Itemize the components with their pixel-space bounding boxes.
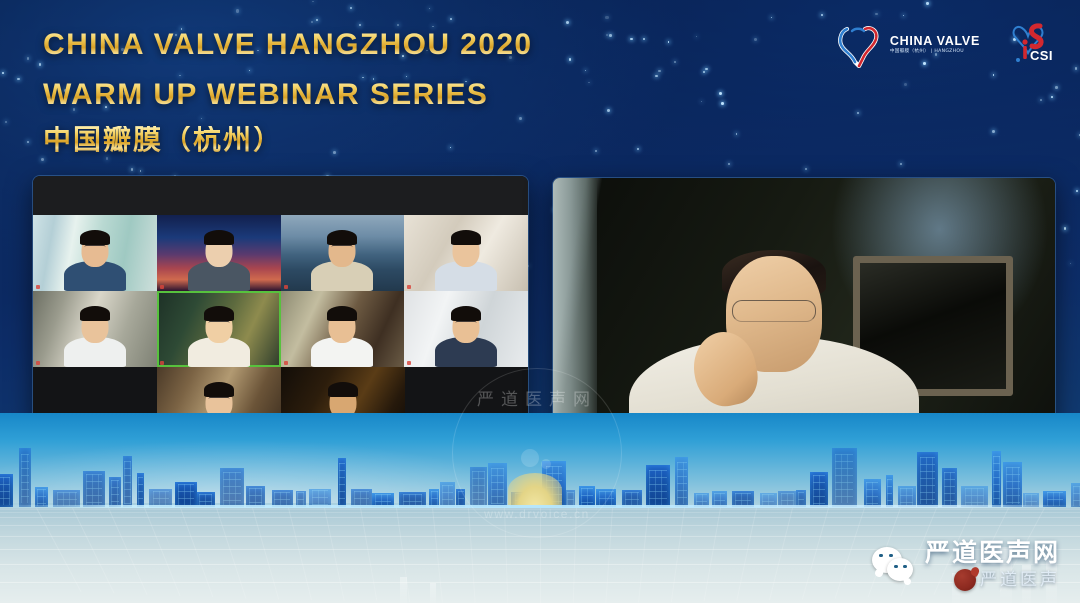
floor-reflection — [400, 577, 407, 603]
participant-1[interactable] — [33, 215, 157, 291]
participant-hair — [451, 230, 481, 245]
brand-dot-icon — [954, 569, 976, 591]
participant-name-label — [284, 285, 290, 289]
participant-name-label — [407, 285, 413, 289]
participant-hair — [80, 230, 110, 245]
building — [123, 456, 132, 507]
floor-line-vertical — [180, 508, 213, 597]
mic-muted-icon — [284, 361, 288, 365]
participant-hair — [204, 306, 234, 321]
building — [864, 479, 881, 507]
building — [992, 451, 1001, 507]
event-title-block: CHINA VALVE HANGZHOU 2020 WARM UP WEBINA… — [43, 30, 533, 154]
participant-glasses — [84, 245, 105, 249]
mic-muted-icon — [284, 285, 288, 289]
mic-muted-icon — [36, 285, 40, 289]
participant-4[interactable] — [404, 215, 528, 291]
building — [579, 486, 595, 507]
participant-hair — [80, 306, 110, 321]
building — [338, 458, 347, 507]
building — [220, 468, 245, 507]
building — [810, 472, 828, 507]
floor-line-vertical — [468, 508, 476, 603]
page-subtitle: WARM UP WEBINAR SERIES — [43, 80, 533, 110]
participant-name-label — [36, 361, 42, 365]
building-silhouettes — [0, 421, 1080, 507]
csi-logo-text: CSI — [1030, 48, 1053, 63]
floor-line-vertical — [802, 508, 829, 599]
building — [832, 448, 857, 507]
participant-3[interactable] — [281, 215, 405, 291]
participant-name-label — [407, 361, 413, 365]
building — [488, 463, 507, 507]
brand-subtitle: 严道医声 — [980, 572, 1060, 589]
floor-line-vertical — [671, 508, 685, 602]
dome-building — [508, 473, 562, 507]
floor-line-vertical — [540, 508, 541, 603]
participant-7[interactable] — [281, 291, 405, 367]
building — [898, 486, 916, 507]
brand-title: 严道医声网 — [925, 540, 1060, 565]
floor-line-vertical — [573, 508, 577, 603]
building — [246, 486, 264, 507]
page-title: CHINA VALVE HANGZHOU 2020 — [43, 30, 533, 60]
floor-line-vertical — [769, 508, 793, 600]
participant-hair — [204, 230, 234, 245]
building — [886, 475, 893, 507]
mic-muted-icon — [36, 361, 40, 365]
building — [1071, 483, 1080, 507]
participant-hair — [204, 382, 234, 397]
participant-name-label — [36, 285, 42, 289]
participant-name-label — [284, 361, 290, 365]
mic-muted-icon — [160, 285, 164, 289]
floor-line-vertical — [704, 508, 721, 602]
participant-hair — [328, 382, 358, 397]
webinar-stage: CHINA VALVE HANGZHOU 2020 WARM UP WEBINA… — [0, 0, 1080, 603]
building — [0, 474, 13, 507]
floor-reflection — [430, 583, 436, 603]
csi-logo: CSI — [1006, 20, 1062, 70]
building — [1003, 462, 1022, 507]
building — [646, 465, 671, 507]
building — [19, 448, 31, 507]
participant-hair — [327, 230, 357, 245]
floor-line-vertical — [324, 508, 345, 601]
building — [137, 473, 144, 507]
floor-line-vertical — [736, 508, 757, 601]
building — [83, 471, 104, 507]
speaker-glasses — [732, 300, 816, 322]
participant-5[interactable] — [33, 291, 157, 367]
participant-glasses — [208, 397, 229, 401]
participant-hair — [451, 306, 481, 321]
building — [961, 486, 988, 507]
participant-glasses — [456, 321, 477, 325]
participant-6[interactable] — [157, 291, 281, 367]
floor-line-vertical — [252, 508, 279, 599]
floor-line-vertical — [638, 508, 649, 603]
drvoice-brand: 严道医声网 严道医声 — [872, 540, 1060, 591]
floor-line-vertical — [605, 508, 613, 603]
participant-name-label — [160, 285, 166, 289]
participant-hair — [327, 306, 357, 321]
china-valve-logo-subtext: 中国瓣膜（杭州） | HANGZHOU — [890, 50, 980, 55]
building — [440, 482, 455, 507]
floor-line-vertical — [216, 508, 246, 599]
mic-muted-icon — [160, 361, 164, 365]
building — [470, 467, 487, 507]
mic-muted-icon — [407, 285, 411, 289]
china-valve-logo-text: CHINA VALVE — [890, 35, 980, 48]
participant-2[interactable] — [157, 215, 281, 291]
building — [175, 482, 197, 507]
china-valve-logo: CHINA VALVE 中国瓣膜（杭州） | HANGZHOU — [835, 22, 980, 68]
building — [917, 452, 938, 508]
logo-group: CHINA VALVE 中国瓣膜（杭州） | HANGZHOU CSI — [835, 20, 1062, 70]
floor-line-vertical — [36, 508, 81, 592]
gallery-toolbar[interactable] — [33, 176, 528, 215]
participant-name-label — [160, 361, 166, 365]
mic-muted-icon — [407, 361, 411, 365]
participant-8[interactable] — [404, 291, 528, 367]
heart-valve-icon — [835, 22, 883, 68]
floor-line-vertical — [360, 508, 377, 602]
building — [942, 468, 957, 507]
building — [109, 477, 121, 507]
building — [675, 457, 689, 507]
participant-glasses — [332, 245, 353, 249]
wechat-icon — [872, 547, 916, 585]
floor-line-vertical — [504, 508, 508, 603]
floor-line-vertical — [835, 508, 865, 599]
floor-line-vertical — [72, 508, 115, 594]
participant-glasses — [208, 321, 229, 325]
floor-line-vertical — [288, 508, 312, 600]
page-title-chinese: 中国瓣膜（杭州） — [43, 126, 533, 154]
